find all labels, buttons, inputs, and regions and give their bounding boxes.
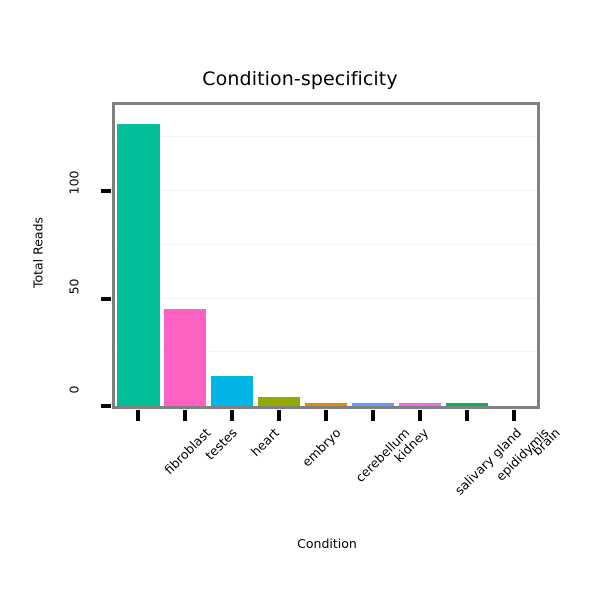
bar-epididymis[interactable] <box>446 403 488 406</box>
x-tick-mark <box>277 410 281 421</box>
gridline-minor <box>115 136 537 137</box>
y-tick-label: 50 <box>67 278 82 318</box>
bar-testes[interactable] <box>164 309 206 406</box>
gridline-minor <box>115 244 537 245</box>
x-tick-mark <box>183 410 187 421</box>
x-tick-mark <box>324 410 328 421</box>
panel-inner <box>115 105 537 406</box>
x-axis-title: Condition <box>112 536 542 551</box>
x-tick-label-heart: heart <box>248 425 282 459</box>
y-axis-title: Total Reads <box>31 193 46 313</box>
chart-plot-root: Condition-specificity Total Reads Condit… <box>0 0 600 600</box>
x-tick-mark <box>230 410 234 421</box>
plot-panel <box>112 102 540 409</box>
y-tick-label: 100 <box>67 171 82 211</box>
chart-title: Condition-specificity <box>0 68 600 90</box>
bar-embryo[interactable] <box>258 397 300 406</box>
x-tick-mark <box>371 410 375 421</box>
gridline-major <box>115 190 537 191</box>
gridline-major <box>115 298 537 299</box>
x-tick-label-embryo: embryo <box>299 425 344 470</box>
bar-kidney[interactable] <box>352 403 394 406</box>
x-tick-mark <box>465 410 469 421</box>
bar-cerebellum[interactable] <box>305 403 347 406</box>
y-tick-mark <box>101 297 111 301</box>
y-tick-mark <box>101 189 111 193</box>
y-tick-label: 0 <box>67 386 82 426</box>
y-tick-mark <box>101 404 111 408</box>
x-tick-label-brain: brain <box>529 425 562 458</box>
x-tick-mark <box>136 410 140 421</box>
bar-heart[interactable] <box>211 376 253 406</box>
x-tick-mark <box>418 410 422 421</box>
x-tick-mark <box>512 410 516 421</box>
bar-salivary-gland[interactable] <box>399 403 441 406</box>
bar-fibroblast[interactable] <box>117 124 159 406</box>
